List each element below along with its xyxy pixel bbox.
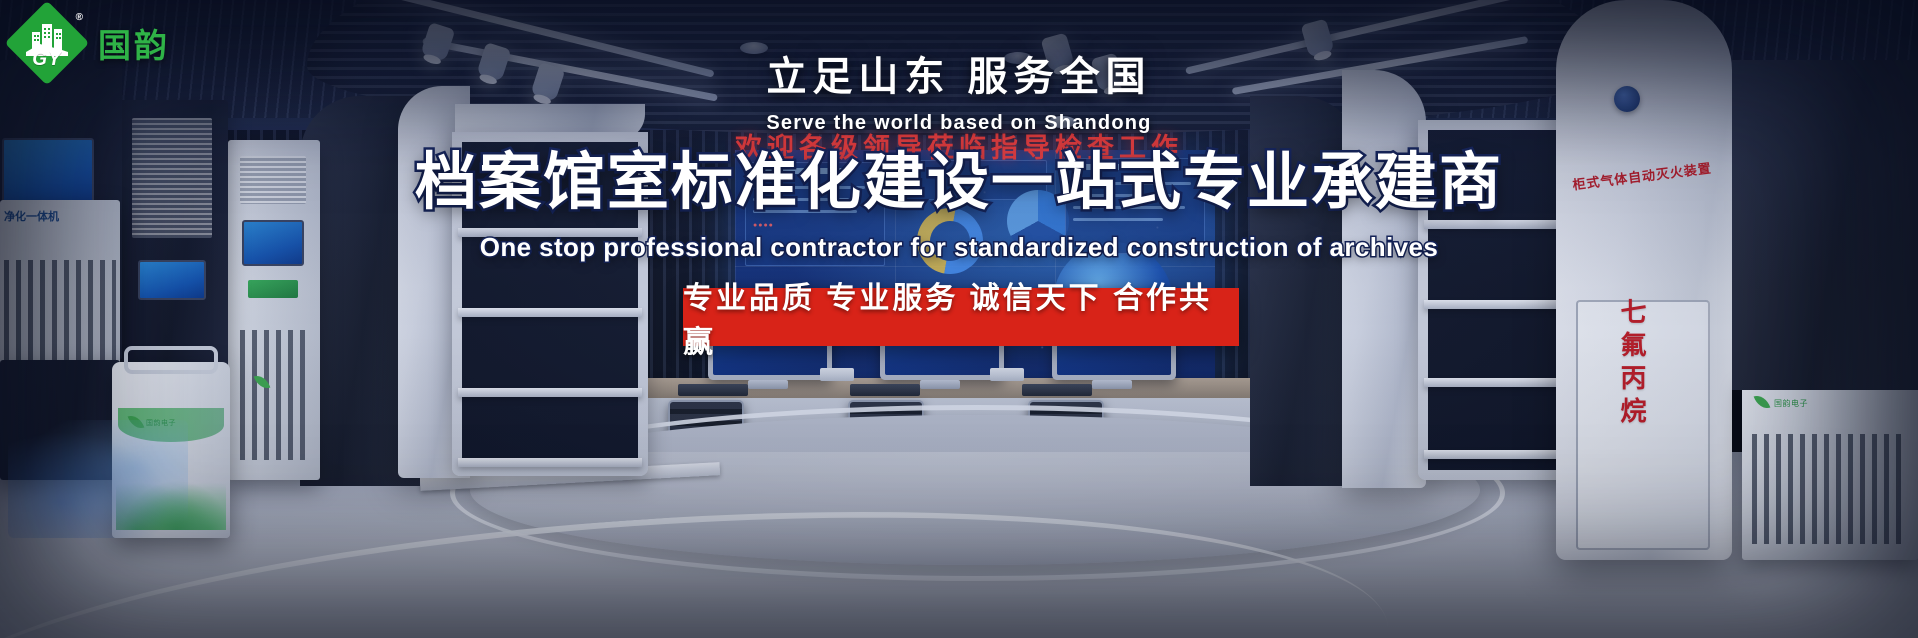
tagline-chinese: 立足山东 服务全国 xyxy=(0,44,1918,102)
headline-english: One stop professional contractor for sta… xyxy=(0,232,1918,263)
hero-banner: ●●●● xyxy=(0,0,1918,638)
headline-chinese: 档案馆室标准化建设一站式专业承建商 xyxy=(0,148,1918,217)
registered-trademark-icon: ® xyxy=(76,12,83,23)
slogan-text: 专业品质 专业服务 诚信天下 合作共赢 xyxy=(683,273,1239,361)
slogan-banner: 专业品质 专业服务 诚信天下 合作共赢 xyxy=(683,288,1239,346)
tagline-english: Serve the world based on Shandong xyxy=(0,112,1918,135)
banner-text-overlay: 欢迎各级领导莅临指导检查工作 xyxy=(0,0,1918,638)
